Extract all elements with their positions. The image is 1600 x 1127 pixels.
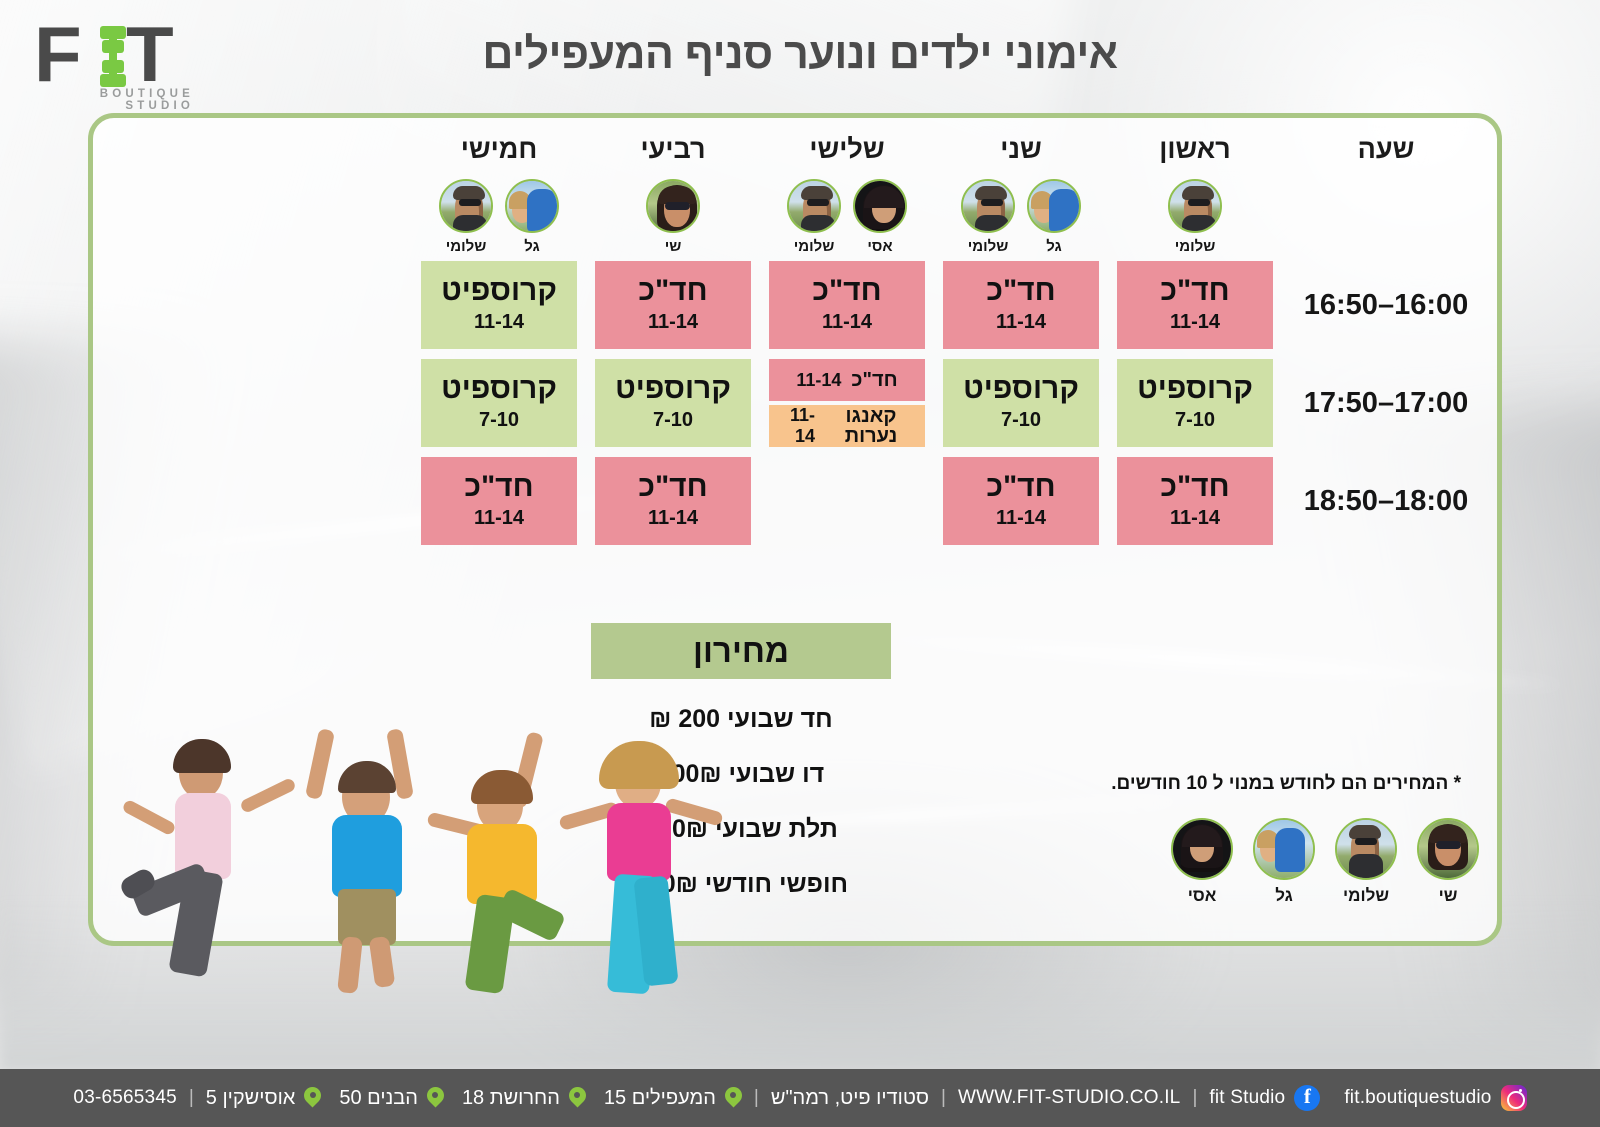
avatar[interactable]: אסי xyxy=(1173,818,1231,906)
instructor-strip: שי שלומי גל אסי xyxy=(1173,818,1477,906)
class-cell[interactable]: חד"כ 11-14 xyxy=(769,261,925,349)
location-pin-icon xyxy=(725,1087,742,1110)
class-title: קרוספיט xyxy=(1137,374,1253,405)
class-cell[interactable]: חד"כ 11-14 xyxy=(595,457,751,545)
address-label: המעפילים 15 xyxy=(604,1087,716,1110)
class-title: חד"כ xyxy=(986,472,1055,503)
avatar-name: גל xyxy=(1046,238,1061,255)
time-label: 18:00–18:50 xyxy=(1291,457,1481,545)
column-header-thursday: חמישי xyxy=(421,134,577,169)
pricing-title: מחירון xyxy=(591,623,891,679)
class-cell-empty xyxy=(769,457,925,545)
class-title: חד"כ xyxy=(638,276,707,307)
class-ages: 11-14 xyxy=(1170,311,1220,334)
location-pin-icon xyxy=(569,1087,586,1110)
footer-facebook[interactable]: fit Studio xyxy=(1209,1085,1320,1111)
avatar[interactable]: שלומי xyxy=(785,179,843,255)
time-label: 16:00–16:50 xyxy=(1291,261,1481,349)
class-title: קרוספיט xyxy=(441,276,557,307)
class-ages: 11-14 xyxy=(474,311,524,334)
class-cell[interactable]: חד"כ 11-14 xyxy=(943,457,1099,545)
avatar-name: שלומי xyxy=(1343,886,1389,906)
address-label: אוסישקין 5 xyxy=(206,1087,296,1110)
schedule-row-1700: 17:00–17:50 קרוספיט 7-10 קרוספיט 7-10 חד… xyxy=(115,359,1485,447)
class-ages: 7-10 xyxy=(1001,409,1041,432)
class-title: קרוספיט xyxy=(615,374,731,405)
footer-address-3[interactable]: הבנים 50 xyxy=(339,1087,444,1110)
class-cell[interactable]: קרוספיט 11-14 xyxy=(421,261,577,349)
class-cell[interactable]: חד"כ 11-14 xyxy=(1117,457,1273,545)
avatar-name: שלומי xyxy=(794,238,835,255)
avatar-name: שי xyxy=(1439,886,1458,906)
avatar-image-shlomi xyxy=(1168,179,1222,233)
column-header-hour: שעה xyxy=(1291,134,1481,169)
class-cell[interactable]: קאנגו נערות 11-14 xyxy=(769,405,925,447)
class-title: חד"כ xyxy=(464,472,533,503)
logo-subtitle: BOUTIQUE STUDIO xyxy=(37,88,194,112)
class-ages: 11-14 xyxy=(777,405,815,447)
class-ages: 11-14 xyxy=(1170,507,1220,530)
location-pin-icon xyxy=(427,1087,444,1110)
avatar-name: אסי xyxy=(867,238,892,255)
class-cell[interactable]: קרוספיט 7-10 xyxy=(421,359,577,447)
column-header-monday: שני xyxy=(943,134,1099,169)
class-ages: 11-14 xyxy=(996,311,1046,334)
schedule-instructor-row: שלומי גל שלומי אסי xyxy=(115,169,1485,261)
kid-4 xyxy=(553,723,743,1013)
avatar-image-shlomi xyxy=(787,179,841,233)
class-title: חד"כ xyxy=(1160,472,1229,503)
kid-1 xyxy=(119,737,309,987)
address-label: החרושת 18 xyxy=(462,1087,560,1110)
class-ages: 11-14 xyxy=(822,311,872,334)
avatar[interactable]: שלומי xyxy=(437,179,495,255)
avatar-name: שי xyxy=(665,238,682,255)
footer-bar: fit.boutiquestudio fit Studio | WWW.FIT-… xyxy=(0,1069,1600,1127)
pricing-note: * המחירים הם לחודש במנוי ל 10 חודשים. xyxy=(1041,773,1461,795)
facebook-handle[interactable]: fit Studio xyxy=(1209,1087,1285,1109)
footer-address-2[interactable]: החרושת 18 xyxy=(462,1087,586,1110)
avatar-name: שלומי xyxy=(446,238,487,255)
class-ages: 7-10 xyxy=(653,409,693,432)
avatar-image-gal xyxy=(505,179,559,233)
website-url[interactable]: WWW.FIT-STUDIO.CO.IL xyxy=(958,1087,1180,1109)
instagram-icon[interactable] xyxy=(1501,1085,1527,1111)
footer-phone[interactable]: 03-6565345 xyxy=(73,1087,176,1109)
avatar-name: שלומי xyxy=(968,238,1009,255)
avatar[interactable]: שלומי xyxy=(1166,179,1224,255)
class-ages: 11-14 xyxy=(474,507,524,530)
class-title: קרוספיט xyxy=(441,374,557,405)
class-cell[interactable]: קרוספיט 7-10 xyxy=(595,359,751,447)
footer-divider: | xyxy=(189,1087,194,1109)
day-instructors-tuesday: אסי שלומי xyxy=(769,169,925,261)
jumping-kids-photo xyxy=(113,718,733,1013)
avatar-image-shai xyxy=(1417,818,1479,880)
schedule-card: שעה ראשון שני שלישי רביעי חמישי שלומי גל xyxy=(88,113,1502,946)
instagram-handle[interactable]: fit.boutiquestudio xyxy=(1344,1087,1491,1109)
avatar-image-asi xyxy=(1171,818,1233,880)
avatar-image-gal xyxy=(1253,818,1315,880)
class-title: חד"כ xyxy=(812,276,881,307)
day-instructors-thursday: גל שלומי xyxy=(421,169,577,261)
avatar[interactable]: אסי xyxy=(851,179,909,255)
schedule-table: שעה ראשון שני שלישי רביעי חמישי שלומי גל xyxy=(115,134,1485,545)
class-title: חד"כ xyxy=(638,472,707,503)
class-cell[interactable]: חד"כ 11-14 xyxy=(943,261,1099,349)
time-label: 17:00–17:50 xyxy=(1291,359,1481,447)
avatar-name: גל xyxy=(1275,886,1293,906)
class-ages: 11-14 xyxy=(648,311,698,334)
class-cell-split: חד"כ 11-14 קאנגו נערות 11-14 xyxy=(769,359,925,447)
class-title: קרוספיט xyxy=(963,374,1079,405)
avatar-name: אסי xyxy=(1188,886,1217,906)
avatar-image-shlomi xyxy=(1335,818,1397,880)
footer-divider: | xyxy=(1192,1087,1197,1109)
day-instructors-monday: גל שלומי xyxy=(943,169,1099,261)
class-ages: 11-14 xyxy=(648,507,698,530)
column-header-wednesday: רביעי xyxy=(595,134,751,169)
class-cell[interactable]: חד"כ 11-14 xyxy=(421,457,577,545)
class-title: חד"כ xyxy=(1160,276,1229,307)
avatar-image-asi xyxy=(853,179,907,233)
address-label: הבנים 50 xyxy=(339,1087,418,1110)
avatar[interactable]: שלומי xyxy=(959,179,1017,255)
class-ages: 11-14 xyxy=(996,507,1046,530)
schedule-header-row: שעה ראשון שני שלישי רביעי חמישי xyxy=(115,134,1485,169)
footer-address-4[interactable]: אוסישקין 5 xyxy=(206,1087,322,1110)
avatar[interactable]: גל xyxy=(503,179,561,255)
avatar-name: שלומי xyxy=(1175,238,1216,255)
avatar-image-shai xyxy=(646,179,700,233)
day-instructors-sunday: שלומי xyxy=(1117,169,1273,261)
studio-label: סטודיו פיט, רמה"ש xyxy=(771,1087,929,1110)
avatar[interactable]: שלומי xyxy=(1337,818,1395,906)
class-cell[interactable]: קרוספיט 7-10 xyxy=(943,359,1099,447)
avatar-name: גל xyxy=(524,238,539,255)
class-ages: 7-10 xyxy=(1175,409,1215,432)
avatar-image-shlomi xyxy=(961,179,1015,233)
schedule-row-1600: 16:00–16:50 חד"כ 11-14 חד"כ 11-14 חד"כ 1… xyxy=(115,261,1485,349)
class-cell[interactable]: קרוספיט 7-10 xyxy=(1117,359,1273,447)
day-instructors-wednesday: שי xyxy=(595,169,751,261)
footer-website[interactable]: WWW.FIT-STUDIO.CO.IL xyxy=(958,1087,1180,1109)
class-title: חד"כ xyxy=(986,276,1055,307)
footer-address-1[interactable]: המעפילים 15 xyxy=(604,1087,742,1110)
avatar[interactable]: שי xyxy=(1419,818,1477,906)
class-cell[interactable]: חד"כ 11-14 xyxy=(595,261,751,349)
footer-studio-name: סטודיו פיט, רמה"ש xyxy=(771,1087,929,1110)
facebook-icon[interactable] xyxy=(1294,1085,1320,1111)
avatar[interactable]: גל xyxy=(1255,818,1313,906)
schedule-row-1800: 18:00–18:50 חד"כ 11-14 חד"כ 11-14 חד"כ 1… xyxy=(115,457,1485,545)
column-header-sunday: ראשון xyxy=(1117,134,1273,169)
footer-divider: | xyxy=(754,1087,759,1109)
class-ages: 11-14 xyxy=(796,370,841,391)
page-title: אימוני ילדים ונוער סניף המעפילים xyxy=(0,30,1600,79)
phone-number[interactable]: 03-6565345 xyxy=(73,1087,176,1109)
column-header-tuesday: שלישי xyxy=(769,134,925,169)
location-pin-icon xyxy=(304,1087,321,1110)
avatar-image-gal xyxy=(1027,179,1081,233)
footer-divider: | xyxy=(941,1087,946,1109)
class-cell[interactable]: חד"כ 11-14 xyxy=(1117,261,1273,349)
footer-instagram[interactable]: fit.boutiquestudio xyxy=(1344,1085,1526,1111)
avatar-image-shlomi xyxy=(439,179,493,233)
avatar[interactable]: גל xyxy=(1025,179,1083,255)
class-cell[interactable]: חד"כ 11-14 xyxy=(769,359,925,401)
class-ages: 7-10 xyxy=(479,409,519,432)
class-title: קאנגו נערות xyxy=(825,406,917,446)
avatar[interactable]: שי xyxy=(644,179,702,255)
class-title: חד"כ xyxy=(851,370,897,390)
